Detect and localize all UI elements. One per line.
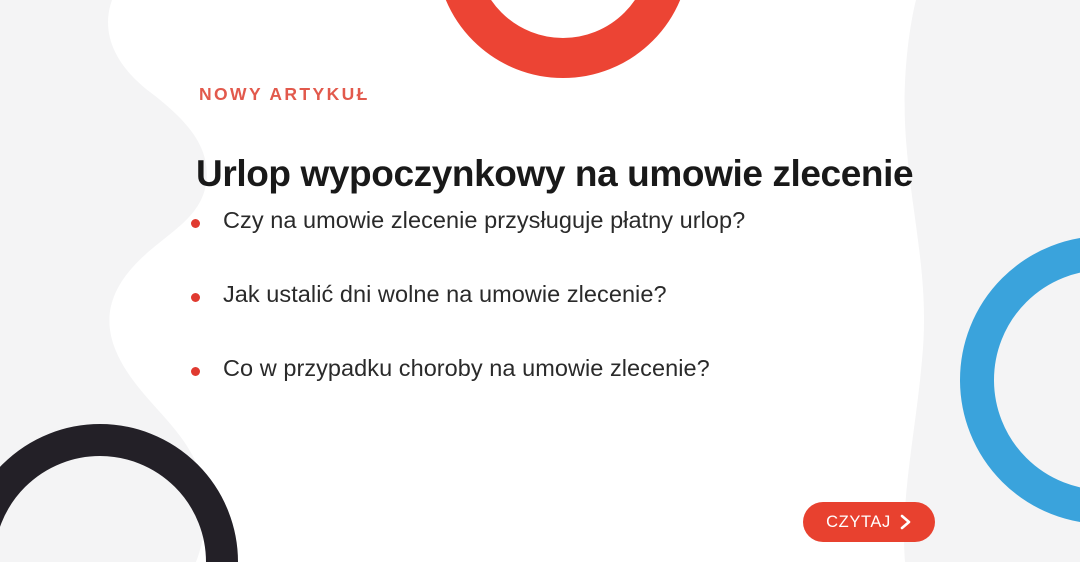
bullet-list: Czy na umowie zlecenie przysługuje płatn… — [190, 205, 890, 427]
list-item: Czy na umowie zlecenie przysługuje płatn… — [190, 205, 890, 279]
bullet-dot-icon — [191, 219, 200, 228]
page-title: Urlop wypoczynkowy na umowie zlecenie — [196, 154, 913, 195]
article-promo-slide: NOWY ARTYKUŁ Urlop wypoczynkowy na umowi… — [0, 0, 1080, 562]
bullet-text: Jak ustalić dni wolne na umowie zlecenie… — [223, 279, 667, 311]
slide-content: NOWY ARTYKUŁ Urlop wypoczynkowy na umowi… — [0, 0, 1080, 562]
bullet-text: Czy na umowie zlecenie przysługuje płatn… — [223, 205, 745, 237]
read-more-label: CZYTAJ — [826, 514, 891, 531]
read-more-button[interactable]: CZYTAJ — [803, 502, 935, 542]
bullet-dot-icon — [191, 367, 200, 376]
chevron-right-icon — [900, 514, 912, 530]
list-item: Jak ustalić dni wolne na umowie zlecenie… — [190, 279, 890, 353]
list-item: Co w przypadku choroby na umowie zleceni… — [190, 353, 890, 427]
bullet-text: Co w przypadku choroby na umowie zleceni… — [223, 353, 710, 385]
eyebrow-label: NOWY ARTYKUŁ — [199, 84, 370, 105]
bullet-dot-icon — [191, 293, 200, 302]
